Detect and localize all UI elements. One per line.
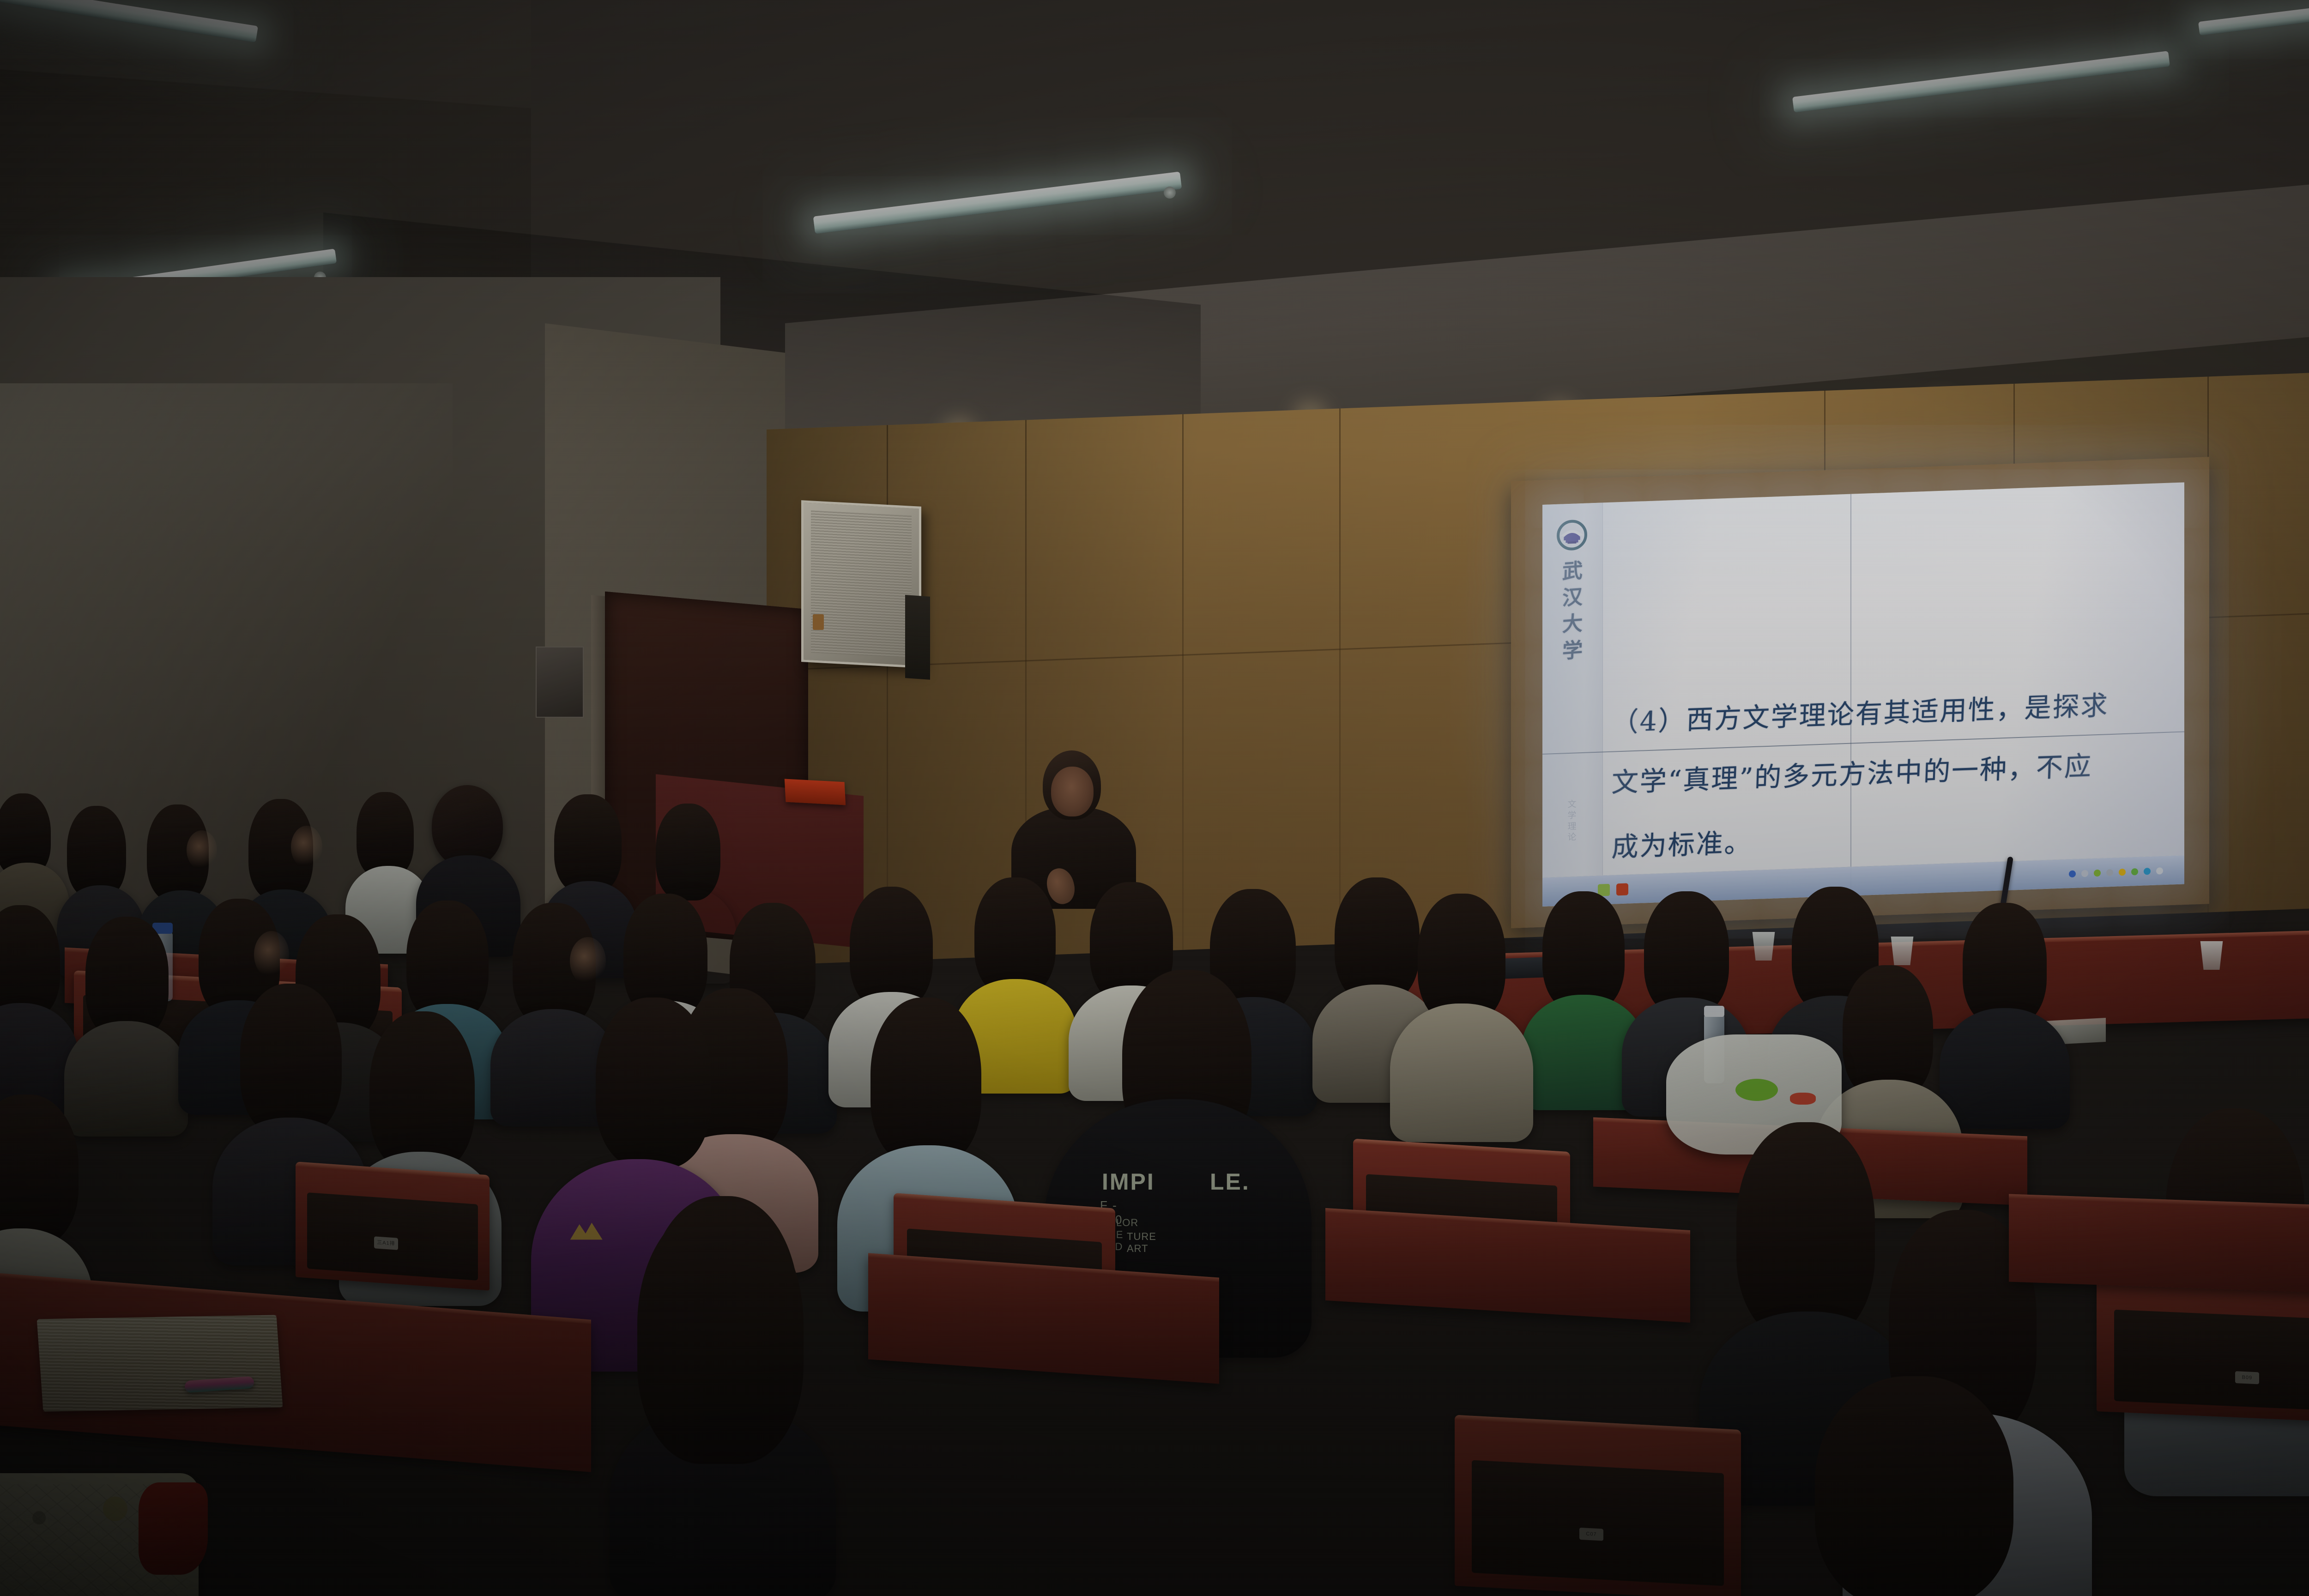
speaker-grille [811, 510, 912, 658]
red-object-on-lectern [785, 779, 846, 805]
bag-red-print [1790, 1093, 1816, 1105]
cloud-sync-icon[interactable] [2131, 868, 2138, 875]
powerpoint-icon[interactable] [1616, 883, 1628, 896]
student-desk [1325, 1208, 1690, 1323]
outdoor-brand-logo-icon [567, 1219, 613, 1243]
open-book [37, 1315, 283, 1411]
taskbar-tray-area[interactable] [2069, 866, 2184, 877]
speaker-mount-bracket [905, 595, 930, 680]
auditorium-seat[interactable]: C07 [1455, 1415, 1741, 1596]
bottle-cap [1704, 1006, 1724, 1017]
bag-green-print [1735, 1079, 1778, 1101]
auditorium-seat[interactable]: 三A1排 [296, 1161, 490, 1290]
tube-end-cap [1164, 187, 1176, 199]
wall-speaker [801, 500, 921, 668]
clock-icon[interactable] [2156, 867, 2163, 875]
wall-control-plate[interactable] [536, 647, 584, 718]
screen-light-falloff [1542, 482, 2184, 907]
battery-icon[interactable] [2081, 870, 2088, 877]
hoodie-graphic-line5: TURE ART [1127, 1231, 1156, 1255]
student-desk [2009, 1194, 2309, 1295]
auditorium-seat[interactable]: B09 [2097, 1273, 2309, 1424]
presenter-face [1051, 767, 1094, 816]
messenger-icon[interactable] [2144, 868, 2151, 875]
seat-number-tag: B09 [2235, 1371, 2259, 1384]
hoodie-graphic-line2: LE. [1210, 1168, 1250, 1195]
red-item-in-tote [139, 1482, 208, 1575]
speaker-switch[interactable] [813, 614, 824, 630]
hoodie-graphic-line1: IMPI [1102, 1168, 1155, 1195]
seat-number-tag: C07 [1579, 1528, 1603, 1541]
antivirus-icon[interactable] [2119, 868, 2126, 876]
seat-number-tag: 三A1排 [374, 1236, 398, 1250]
book-pages [37, 1315, 283, 1411]
projection-screen: 武 汉 大 学 文 学 理 论 （4）西方文学理论有其适用性，是探求 文学“真理… [1542, 482, 2184, 907]
volume-icon[interactable] [2106, 869, 2113, 876]
input-method-icon[interactable] [2094, 869, 2101, 877]
lecture-hall-photo: 武 汉 大 学 文 学 理 论 （4）西方文学理论有其适用性，是探求 文学“真理… [0, 0, 2309, 1596]
network-icon[interactable] [2069, 870, 2076, 877]
